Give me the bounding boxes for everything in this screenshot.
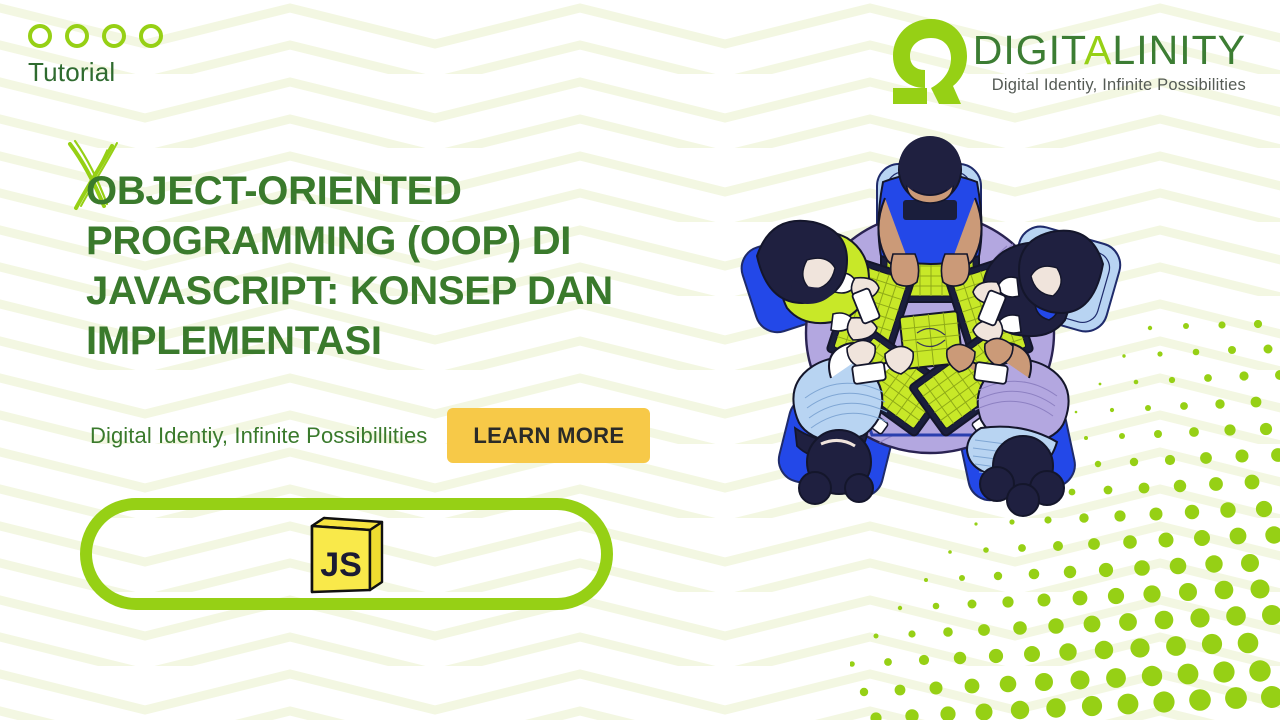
circle-outline-icon xyxy=(65,24,89,48)
logo-wordmark-part-2: LINITY xyxy=(1112,27,1246,73)
promo-banner: Tutorial DIGITALINITY Digital Identiy, I… xyxy=(0,0,1280,720)
brand-logo[interactable]: DIGITALINITY Digital Identiy, Infinite P… xyxy=(887,14,1246,104)
digitalinity-q-mark-icon xyxy=(887,16,969,104)
svg-text:JS: JS xyxy=(320,546,362,584)
learn-more-button[interactable]: LEARN MORE xyxy=(447,408,650,463)
circle-outline-icon xyxy=(139,24,163,48)
logo-wordmark-part-1: DIGIT xyxy=(973,27,1084,73)
circle-outline-icon xyxy=(28,24,52,48)
logo-tagline: Digital Identiy, Infinite Possibilities xyxy=(973,76,1246,95)
subtitle-cta-row: Digital Identiy, Infinite Possibillities… xyxy=(90,408,650,463)
javascript-cube-icon: JS xyxy=(308,514,386,594)
circle-outline-icon xyxy=(102,24,126,48)
tech-badge-pill: JS xyxy=(80,498,613,610)
logo-wordmark-accent-letter: A xyxy=(1084,27,1112,73)
logo-text-block: DIGITALINITY Digital Identiy, Infinite P… xyxy=(973,14,1246,95)
eyebrow-label: Tutorial xyxy=(28,57,163,88)
circle-decoration-row xyxy=(28,24,163,48)
logo-wordmark: DIGITALINITY xyxy=(973,30,1246,71)
subtitle: Digital Identiy, Infinite Possibillities xyxy=(90,423,427,449)
team-roundtable-laptops-illustration xyxy=(735,128,1125,518)
eyebrow-block: Tutorial xyxy=(28,24,163,88)
page-title: OBJECT-ORIENTED PROGRAMMING (OOP) DI JAV… xyxy=(86,166,686,366)
headline-block: OBJECT-ORIENTED PROGRAMMING (OOP) DI JAV… xyxy=(86,166,686,366)
